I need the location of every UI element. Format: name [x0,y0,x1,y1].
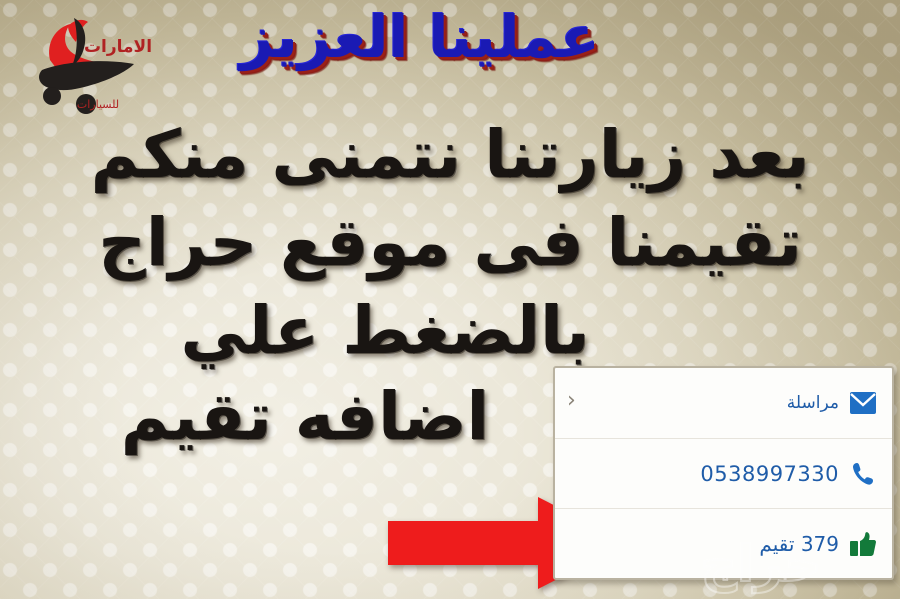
panel-label-rating: 379 تقيم [759,532,839,556]
body-line-2: تقيمنا فى موقع حراج [8,210,892,276]
envelope-icon [848,388,878,418]
panel-label-phone: 0538997330 [700,462,839,486]
panel-label-message: مراسلة [787,393,839,413]
back-chevron-icon[interactable]: ‹ [567,390,576,412]
body-line-1: بعد زيارتنا نتمنى منكم [8,122,892,188]
poster-title: عملينا العزيز [100,8,740,66]
thumbs-up-icon [848,529,878,559]
body-line-3: بالضغط علي [8,298,892,364]
promo-poster: الامارات للسيارات عملينا العزيز بعد زيار… [0,0,900,599]
contact-info-panel: مراسلة ‹ 0538997330 379 تقيم [553,366,894,580]
panel-row-message[interactable]: مراسلة ‹ [555,368,892,438]
panel-row-rating[interactable]: 379 تقيم [555,508,892,578]
phone-icon [848,459,878,489]
logo-sub-text: للسيارات [77,98,119,111]
panel-row-phone[interactable]: 0538997330 [555,438,892,508]
